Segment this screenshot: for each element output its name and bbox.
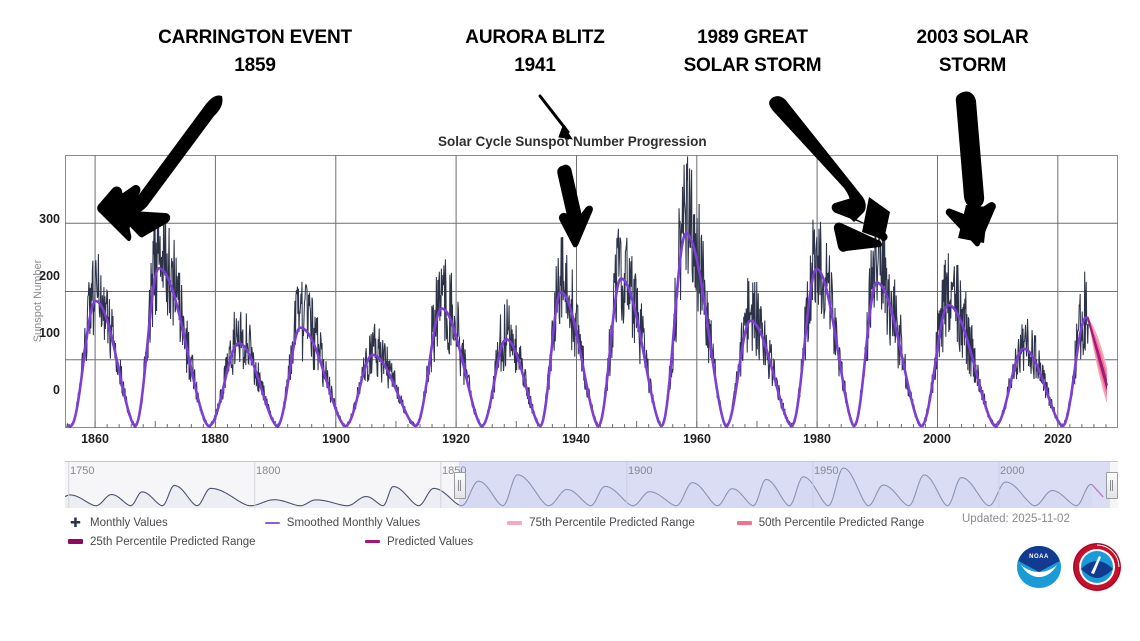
legend-row-1: ✚ Monthly Values Smoothed Monthly Values… — [68, 513, 1068, 532]
annotation-aurora-blitz: AURORA BLITZ 1941 — [420, 24, 650, 79]
svg-text:NOAA: NOAA — [1029, 554, 1049, 560]
x-tick-1860: 1860 — [55, 432, 135, 446]
agency-logos: NOAA — [1013, 541, 1133, 593]
line-swatch-icon — [365, 540, 380, 543]
x-tick-1920: 1920 — [416, 432, 496, 446]
navigator-label-1900: 1900 — [628, 465, 652, 477]
legend-item-predicted-values[interactable]: Predicted Values — [365, 536, 473, 548]
x-tick-1980: 1980 — [777, 432, 857, 446]
legend-item-25th-percentile-predicted-range[interactable]: 25th Percentile Predicted Range — [68, 536, 318, 548]
band-swatch-icon — [507, 521, 522, 525]
band-swatch-icon — [68, 539, 83, 544]
x-tick-1880: 1880 — [175, 432, 255, 446]
y-tick-300: 300 — [14, 212, 60, 226]
band-swatch-icon — [737, 521, 752, 525]
updated-timestamp: Updated: 2025-11-02 — [962, 513, 1070, 525]
line-swatch-icon — [265, 522, 280, 524]
national-weather-service-logo — [1071, 541, 1123, 593]
x-tick-2020: 2020 — [1018, 432, 1098, 446]
legend-label: 25th Percentile Predicted Range — [90, 536, 256, 548]
legend-label: 75th Percentile Predicted Range — [529, 517, 695, 529]
navigator-label-1950: 1950 — [814, 465, 838, 477]
navigator-label-1800: 1800 — [256, 465, 280, 477]
legend-label: Predicted Values — [387, 536, 473, 548]
legend-item-smoothed-monthly-values[interactable]: Smoothed Monthly Values — [265, 517, 420, 529]
x-tick-1960: 1960 — [657, 432, 737, 446]
x-tick-2000: 2000 — [897, 432, 977, 446]
annotation-carrington-event: CARRINGTON EVENT 1859 — [105, 24, 405, 79]
legend-item-monthly-values[interactable]: ✚ Monthly Values — [68, 516, 168, 529]
legend-label: Monthly Values — [90, 517, 168, 529]
annotation-1989-great-solar-storm: 1989 GREAT SOLAR STORM — [645, 24, 860, 79]
legend-row-2: 25th Percentile Predicted Range Predicte… — [68, 532, 1068, 551]
x-axis-tick-labels: 1860 1880 1900 1920 1940 1960 1980 2000 … — [0, 432, 1140, 452]
cross-marker-icon: ✚ — [68, 516, 83, 529]
predicted-line — [1088, 318, 1107, 385]
chart-legend: ✚ Monthly Values Smoothed Monthly Values… — [68, 513, 1068, 551]
navigator-handle-right[interactable] — [1106, 472, 1118, 499]
navigator-handle-left[interactable] — [454, 472, 466, 499]
solar-cycle-chart: Solar Cycle Sunspot Number Progression S… — [0, 0, 1140, 641]
y-tick-100: 100 — [14, 326, 60, 340]
x-tick-1900: 1900 — [296, 432, 376, 446]
series-monthly-values — [67, 156, 1088, 427]
legend-item-50th-percentile-predicted-range[interactable]: 50th Percentile Predicted Range — [737, 517, 925, 529]
annotation-2003-solar-storm: 2003 SOLAR STORM — [865, 24, 1080, 79]
y-axis-tick-labels: 300 200 100 0 — [8, 0, 60, 641]
series-predicted-values — [1088, 318, 1107, 385]
x-tick-1940: 1940 — [536, 432, 616, 446]
legend-item-75th-percentile-predicted-range[interactable]: 75th Percentile Predicted Range — [507, 517, 695, 529]
legend-label: 50th Percentile Predicted Range — [759, 517, 925, 529]
plot-svg — [65, 155, 1118, 428]
y-tick-0: 0 — [14, 383, 60, 397]
monthly-line — [67, 156, 1088, 427]
navigator-label-2000: 2000 — [1000, 465, 1024, 477]
y-tick-200: 200 — [14, 269, 60, 283]
legend-label: Smoothed Monthly Values — [287, 517, 420, 529]
chart-title: Solar Cycle Sunspot Number Progression — [438, 134, 707, 149]
navigator-label-1750: 1750 — [70, 465, 94, 477]
range-navigator[interactable]: 1750 1800 1850 1900 1950 2000 — [65, 461, 1118, 508]
noaa-logo: NOAA — [1013, 541, 1065, 593]
